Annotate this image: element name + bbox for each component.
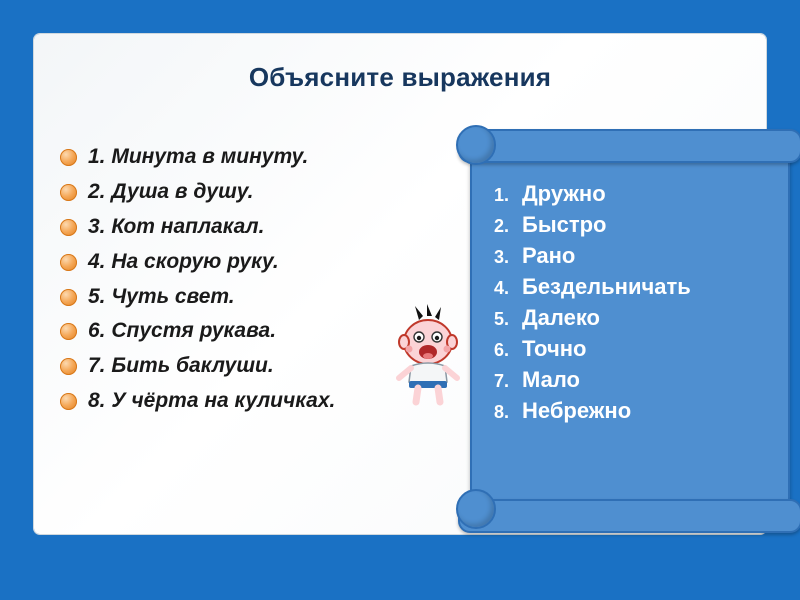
answer-number: 4. [494,278,522,299]
answer-text: Рано [522,243,575,269]
answer-text: Быстро [522,212,607,238]
answers-scroll-banner: 1. Дружно 2. Быстро 3. Рано 4. Бездельни… [458,129,798,529]
list-item: 5. Далеко [494,305,794,331]
bullet-icon [60,358,77,375]
list-item: 8. Небрежно [494,398,794,424]
answer-text: Дружно [522,181,606,207]
slide-content-panel: Объясните выражения 1. Минута в минуту. … [34,34,766,534]
bullet-icon [60,323,77,340]
answer-number: 3. [494,247,522,268]
list-item: 1. Минута в минуту. [60,144,490,171]
answer-text: Мало [522,367,580,393]
slide: Объясните выражения 1. Минута в минуту. … [12,12,788,588]
page-title: Объясните выражения [34,62,766,93]
expression-text: 4. На скорую руку. [88,249,279,276]
list-item: 3. Кот наплакал. [60,214,490,241]
scroll-top-knob [456,125,496,165]
bullet-icon [60,149,77,166]
answer-number: 5. [494,309,522,330]
expression-text: 6. Спустя рукава. [88,318,276,345]
bullet-icon [60,184,77,201]
scroll-top-curl [458,129,800,163]
scroll-bottom-curl [458,499,800,533]
answer-text: Небрежно [522,398,631,424]
baby-cartoon-icon [389,302,467,408]
answer-number: 6. [494,340,522,361]
answer-text: Бездельничать [522,274,691,300]
expression-text: 7. Бить баклуши. [88,353,274,380]
list-item: 4. На скорую руку. [60,249,490,276]
list-item: 7. Мало [494,367,794,393]
bullet-icon [60,393,77,410]
answer-number: 8. [494,402,522,423]
list-item: 6. Точно [494,336,794,362]
list-item: 2. Душа в душу. [60,179,490,206]
answer-text: Далеко [522,305,600,331]
answer-number: 7. [494,371,522,392]
bullet-icon [60,219,77,236]
answer-text: Точно [522,336,586,362]
bullet-icon [60,289,77,306]
expression-text: 8. У чёрта на куличках. [88,388,335,415]
list-item: 3. Рано [494,243,794,269]
expression-text: 5. Чуть свет. [88,284,235,311]
answer-number: 2. [494,216,522,237]
list-item: 4. Бездельничать [494,274,794,300]
bullet-icon [60,254,77,271]
list-item: 1. Дружно [494,181,794,207]
answer-number: 1. [494,185,522,206]
list-item: 2. Быстро [494,212,794,238]
scroll-bottom-knob [456,489,496,529]
expression-text: 2. Душа в душу. [88,179,253,206]
expression-text: 3. Кот наплакал. [88,214,264,241]
expression-text: 1. Минута в минуту. [88,144,308,171]
answers-list: 1. Дружно 2. Быстро 3. Рано 4. Бездельни… [494,181,794,429]
